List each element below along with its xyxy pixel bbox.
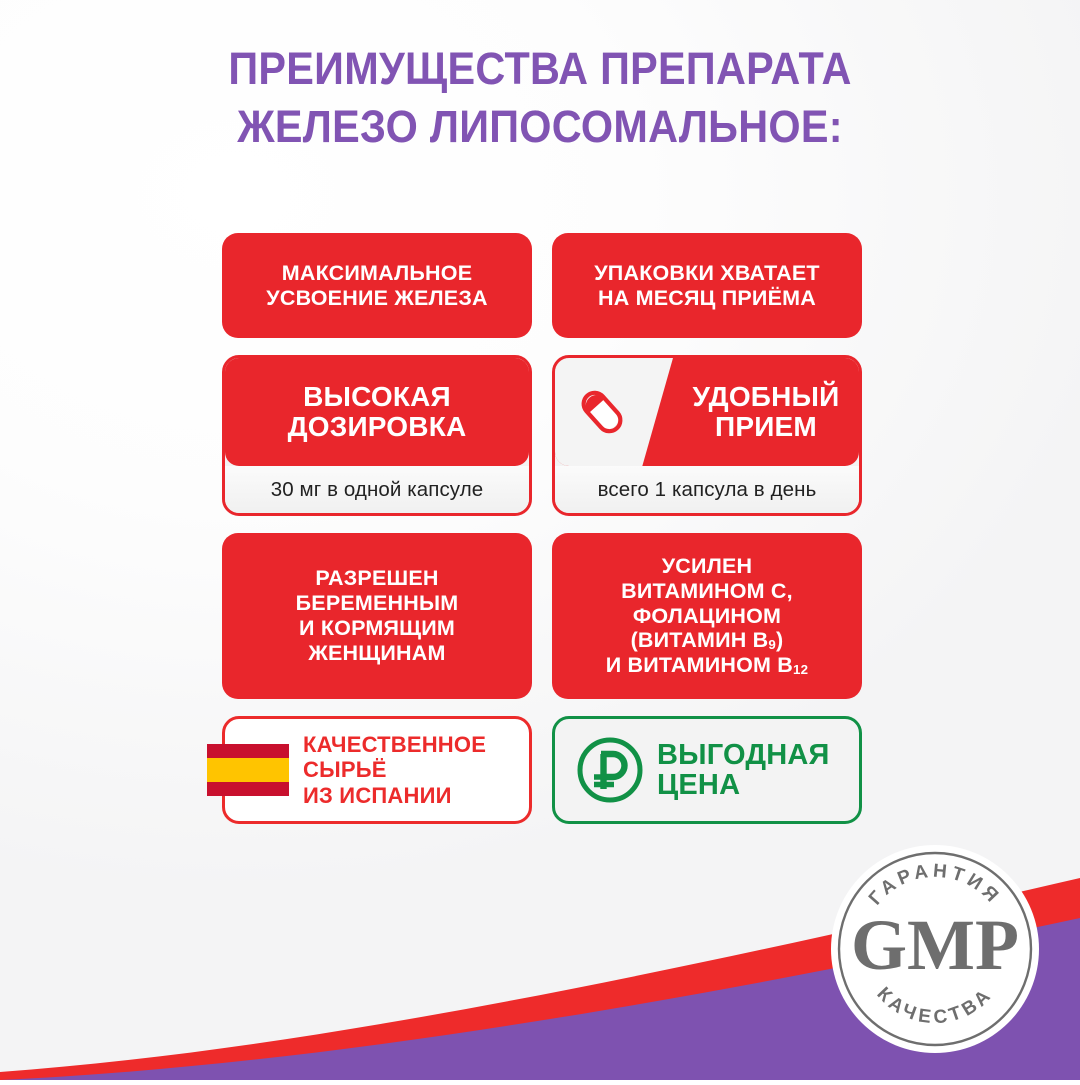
benefit-line: И КОРМЯЩИМ	[296, 616, 459, 641]
benefit-cell: МАКСИМАЛЬНОЕ УСВОЕНИЕ ЖЕЛЕЗА	[222, 233, 532, 338]
benefit-line: ПРИЕМ	[692, 412, 839, 442]
benefit-cell: УДОБНЫЙ ПРИЕМ всего 1 капсула в день	[552, 355, 862, 516]
benefit-card-caption: 30 мг в одной капсуле	[225, 466, 529, 513]
benefit-card-text: КАЧЕСТВЕННОЕ СЫРЬЁ ИЗ ИСПАНИИ	[303, 732, 486, 807]
benefit-line: РАЗРЕШЕН	[296, 566, 459, 591]
vitamin-subscript: 9	[768, 638, 776, 653]
benefit-line: ВЫСОКАЯ	[288, 382, 467, 412]
ruble-coin-icon	[573, 733, 647, 807]
benefit-card-convenient-intake[interactable]: УДОБНЫЙ ПРИЕМ всего 1 капсула в день	[552, 355, 862, 516]
benefits-grid: МАКСИМАЛЬНОЕ УСВОЕНИЕ ЖЕЛЕЗА УПАКОВКИ ХВ…	[222, 233, 862, 841]
benefit-card-text: УПАКОВКИ ХВАТАЕТ НА МЕСЯЦ ПРИЁМА	[594, 261, 820, 311]
benefit-card-text-area: УДОБНЫЙ ПРИЕМ	[673, 358, 859, 466]
benefits-row-4: КАЧЕСТВЕННОЕ СЫРЬЁ ИЗ ИСПАНИИ	[222, 716, 862, 824]
benefit-line: (ВИТАМИН В9)	[606, 628, 809, 653]
benefit-card-text: МАКСИМАЛЬНОЕ УСВОЕНИЕ ЖЕЛЕЗА	[266, 261, 487, 311]
capsule-icon	[569, 379, 635, 445]
benefits-row-1: МАКСИМАЛЬНОЕ УСВОЕНИЕ ЖЕЛЕЗА УПАКОВКИ ХВ…	[222, 233, 862, 338]
benefit-cell: ВЫГОДНАЯ ЦЕНА	[552, 716, 862, 824]
spain-flag-icon	[207, 744, 289, 796]
benefits-row-3: РАЗРЕШЕН БЕРЕМЕННЫМ И КОРМЯЩИМ ЖЕНЩИНАМ …	[222, 533, 862, 699]
benefit-cell: ВЫСОКАЯ ДОЗИРОВКА 30 мг в одной капсуле	[222, 355, 532, 516]
benefits-row-2: ВЫСОКАЯ ДОЗИРОВКА 30 мг в одной капсуле	[222, 355, 862, 516]
benefit-line: ФОЛАЦИНОМ	[606, 604, 809, 629]
benefit-card-high-dosage[interactable]: ВЫСОКАЯ ДОЗИРОВКА 30 мг в одной капсуле	[222, 355, 532, 516]
benefit-line: ЖЕНЩИНАМ	[296, 641, 459, 666]
page-title: ПРЕИМУЩЕСТВА ПРЕПАРАТА ЖЕЛЕЗО ЛИПОСОМАЛЬ…	[43, 40, 1037, 155]
benefit-card-pregnancy-safe[interactable]: РАЗРЕШЕН БЕРЕМЕННЫМ И КОРМЯЩИМ ЖЕНЩИНАМ	[222, 533, 532, 699]
benefit-line: УСИЛЕН	[606, 554, 809, 579]
benefit-card-text: РАЗРЕШЕН БЕРЕМЕННЫМ И КОРМЯЩИМ ЖЕНЩИНАМ	[296, 566, 459, 666]
benefit-line-part: )	[776, 628, 783, 652]
benefit-line: ДОЗИРОВКА	[288, 412, 467, 442]
promo-page: ПРЕИМУЩЕСТВА ПРЕПАРАТА ЖЕЛЕЗО ЛИПОСОМАЛЬ…	[0, 0, 1080, 1080]
benefit-line: НА МЕСЯЦ ПРИЁМА	[594, 286, 820, 311]
benefit-card-spanish-raw-material[interactable]: КАЧЕСТВЕННОЕ СЫРЬЁ ИЗ ИСПАНИИ	[222, 716, 532, 824]
benefit-card-month-supply[interactable]: УПАКОВКИ ХВАТАЕТ НА МЕСЯЦ ПРИЁМА	[552, 233, 862, 338]
benefit-card-text: УДОБНЫЙ ПРИЕМ	[692, 382, 839, 442]
benefit-cell: РАЗРЕШЕН БЕРЕМЕННЫМ И КОРМЯЩИМ ЖЕНЩИНАМ	[222, 533, 532, 699]
benefit-line: ЦЕНА	[657, 770, 830, 800]
benefit-card-vitamin-enriched[interactable]: УСИЛЕН ВИТАМИНОМ С, ФОЛАЦИНОМ (ВИТАМИН В…	[552, 533, 862, 699]
benefit-line: БЕРЕМЕННЫМ	[296, 591, 459, 616]
benefit-line: УПАКОВКИ ХВАТАЕТ	[594, 261, 820, 286]
gmp-quality-badge: ГАРАНТИЯ GMP КАЧЕСТВА	[827, 841, 1043, 1057]
benefit-line: УДОБНЫЙ	[692, 382, 839, 412]
benefit-card-headline-area: УДОБНЫЙ ПРИЕМ	[555, 358, 859, 466]
benefit-line: УСВОЕНИЕ ЖЕЛЕЗА	[266, 286, 487, 311]
vitamin-subscript: 12	[793, 663, 808, 678]
benefit-card-good-price[interactable]: ВЫГОДНАЯ ЦЕНА	[552, 716, 862, 824]
benefit-cell: УСИЛЕН ВИТАМИНОМ С, ФОЛАЦИНОМ (ВИТАМИН В…	[552, 533, 862, 699]
benefit-card-caption: всего 1 капсула в день	[555, 466, 859, 513]
benefit-cell: КАЧЕСТВЕННОЕ СЫРЬЁ ИЗ ИСПАНИИ	[222, 716, 532, 824]
benefit-card-text: ВЫГОДНАЯ ЦЕНА	[657, 740, 830, 801]
benefit-line: И ВИТАМИНОМ В12	[606, 653, 809, 678]
benefit-line: ВЫГОДНАЯ	[657, 740, 830, 770]
benefit-card-text: ВЫСОКАЯ ДОЗИРОВКА	[288, 382, 467, 442]
benefit-line: МАКСИМАЛЬНОЕ	[266, 261, 487, 286]
benefit-line-part: И ВИТАМИНОМ В	[606, 653, 793, 677]
benefit-line: ВИТАМИНОМ С,	[606, 579, 809, 604]
benefit-line-part: (ВИТАМИН В	[631, 628, 769, 652]
benefit-line: СЫРЬЁ	[303, 757, 486, 782]
benefit-line: КАЧЕСТВЕННОЕ	[303, 732, 486, 757]
gmp-center-text: GMP	[851, 905, 1019, 985]
benefit-card-text: УСИЛЕН ВИТАМИНОМ С, ФОЛАЦИНОМ (ВИТАМИН В…	[606, 554, 809, 679]
benefit-card-headline-area: ВЫСОКАЯ ДОЗИРОВКА	[225, 358, 529, 466]
benefit-line: ИЗ ИСПАНИИ	[303, 783, 486, 808]
benefit-card-max-absorption[interactable]: МАКСИМАЛЬНОЕ УСВОЕНИЕ ЖЕЛЕЗА	[222, 233, 532, 338]
benefit-cell: УПАКОВКИ ХВАТАЕТ НА МЕСЯЦ ПРИЁМА	[552, 233, 862, 338]
